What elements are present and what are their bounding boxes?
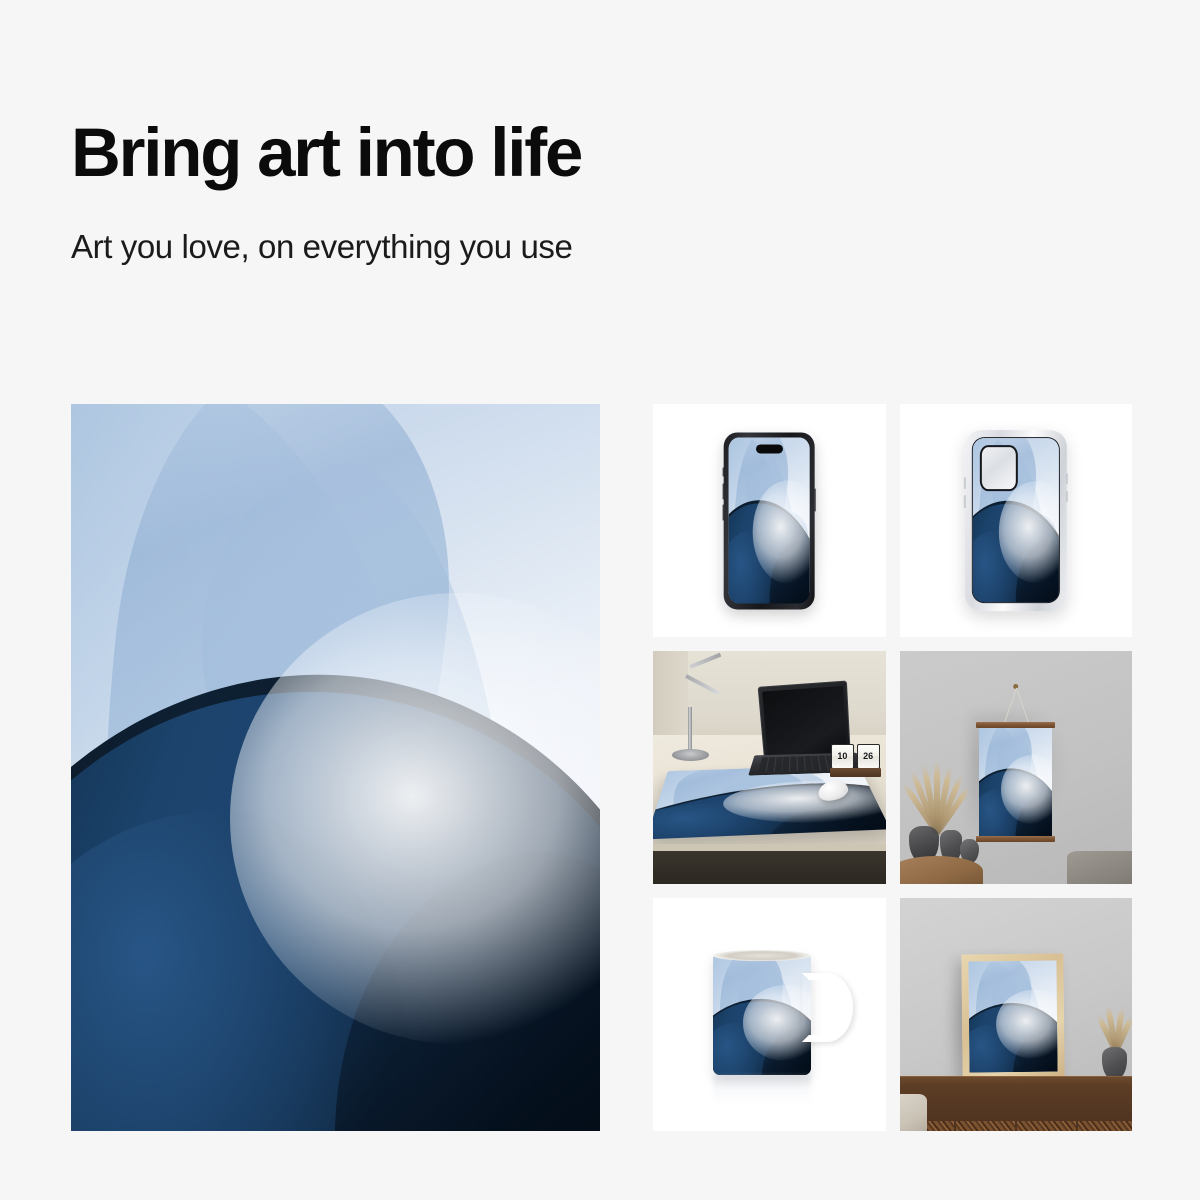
sofa (1067, 851, 1132, 884)
mug-body (713, 954, 811, 1075)
phone-volume-up-button (723, 483, 724, 499)
sofa-corner (900, 1094, 928, 1131)
desk-lamp-base (672, 749, 709, 761)
artwork-in-frame (969, 961, 1058, 1073)
sideboard-door (956, 1121, 1015, 1131)
page-header: Bring art into life Art you love, on eve… (71, 118, 971, 267)
tile-phone-case[interactable] (900, 404, 1133, 637)
artwork-on-phone (729, 437, 809, 604)
artwork-on-mug (713, 954, 811, 1075)
sideboard-door (1017, 1121, 1076, 1131)
camera-cutout (979, 445, 1017, 491)
flip-calendar-stand (830, 768, 881, 776)
case-power-cutout-bottom (1066, 491, 1068, 502)
framed-print-art (969, 961, 1058, 1073)
phone-volume-down-button (723, 505, 724, 521)
tile-mug[interactable] (653, 898, 886, 1131)
sideboard (900, 1077, 1133, 1131)
page-subtitle: Art you love, on everything you use (71, 227, 971, 267)
flip-calendar: 10 26 (830, 744, 881, 777)
mug-reflection (713, 1075, 811, 1105)
desk-mat-scene: 10 26 (653, 651, 886, 884)
hanging-poster-scene (900, 651, 1133, 884)
flip-calendar-cards: 10 26 (831, 744, 880, 769)
sideboard-door (1078, 1121, 1132, 1131)
desk-lamp-pole (688, 707, 692, 754)
pampas-grass (904, 763, 964, 833)
product-tile-grid: 10 26 (653, 404, 1132, 1131)
hero-artwork[interactable] (71, 404, 600, 1131)
phone-case (965, 430, 1067, 612)
promo-page: Bring art into life Art you love, on eve… (0, 0, 1200, 1200)
phone-power-button (814, 489, 815, 512)
phone-screen (729, 437, 809, 604)
round-side-table (900, 856, 984, 884)
mug-handle (802, 973, 853, 1043)
tile-phone-wallpaper[interactable] (653, 404, 886, 637)
artwork-on-hanging-poster (979, 726, 1052, 838)
page-title: Bring art into life (71, 118, 971, 187)
framed-print-scene (900, 898, 1133, 1131)
poster-rail-top (976, 722, 1055, 728)
phone-device (724, 432, 815, 609)
case-volume-down-cutout (963, 495, 965, 508)
phone-mute-switch (723, 467, 724, 476)
phone-dynamic-island (756, 445, 783, 454)
desk-underside (653, 851, 886, 884)
sideboard-doors (900, 1121, 1133, 1131)
poster-rail-bottom (976, 836, 1055, 842)
desk-edge (653, 844, 886, 851)
phone-scene (653, 404, 886, 637)
flip-calendar-month: 10 (831, 744, 854, 769)
tile-hanging-poster[interactable] (900, 651, 1133, 884)
pampas-grass (1097, 1005, 1130, 1052)
tile-desk-mat[interactable]: 10 26 (653, 651, 886, 884)
flip-calendar-day: 26 (857, 744, 880, 769)
case-back-panel (972, 438, 1060, 604)
picture-frame (962, 953, 1066, 1080)
artwork-abstract-blue-flow (71, 404, 600, 1131)
case-power-cutout-top (1066, 473, 1068, 484)
tile-framed-print[interactable] (900, 898, 1133, 1131)
product-gallery: 10 26 (71, 404, 1132, 1131)
phone-case-scene (900, 404, 1133, 637)
hanging-poster-art (979, 726, 1052, 838)
mug-scene (653, 898, 886, 1131)
case-volume-up-cutout (963, 477, 965, 490)
